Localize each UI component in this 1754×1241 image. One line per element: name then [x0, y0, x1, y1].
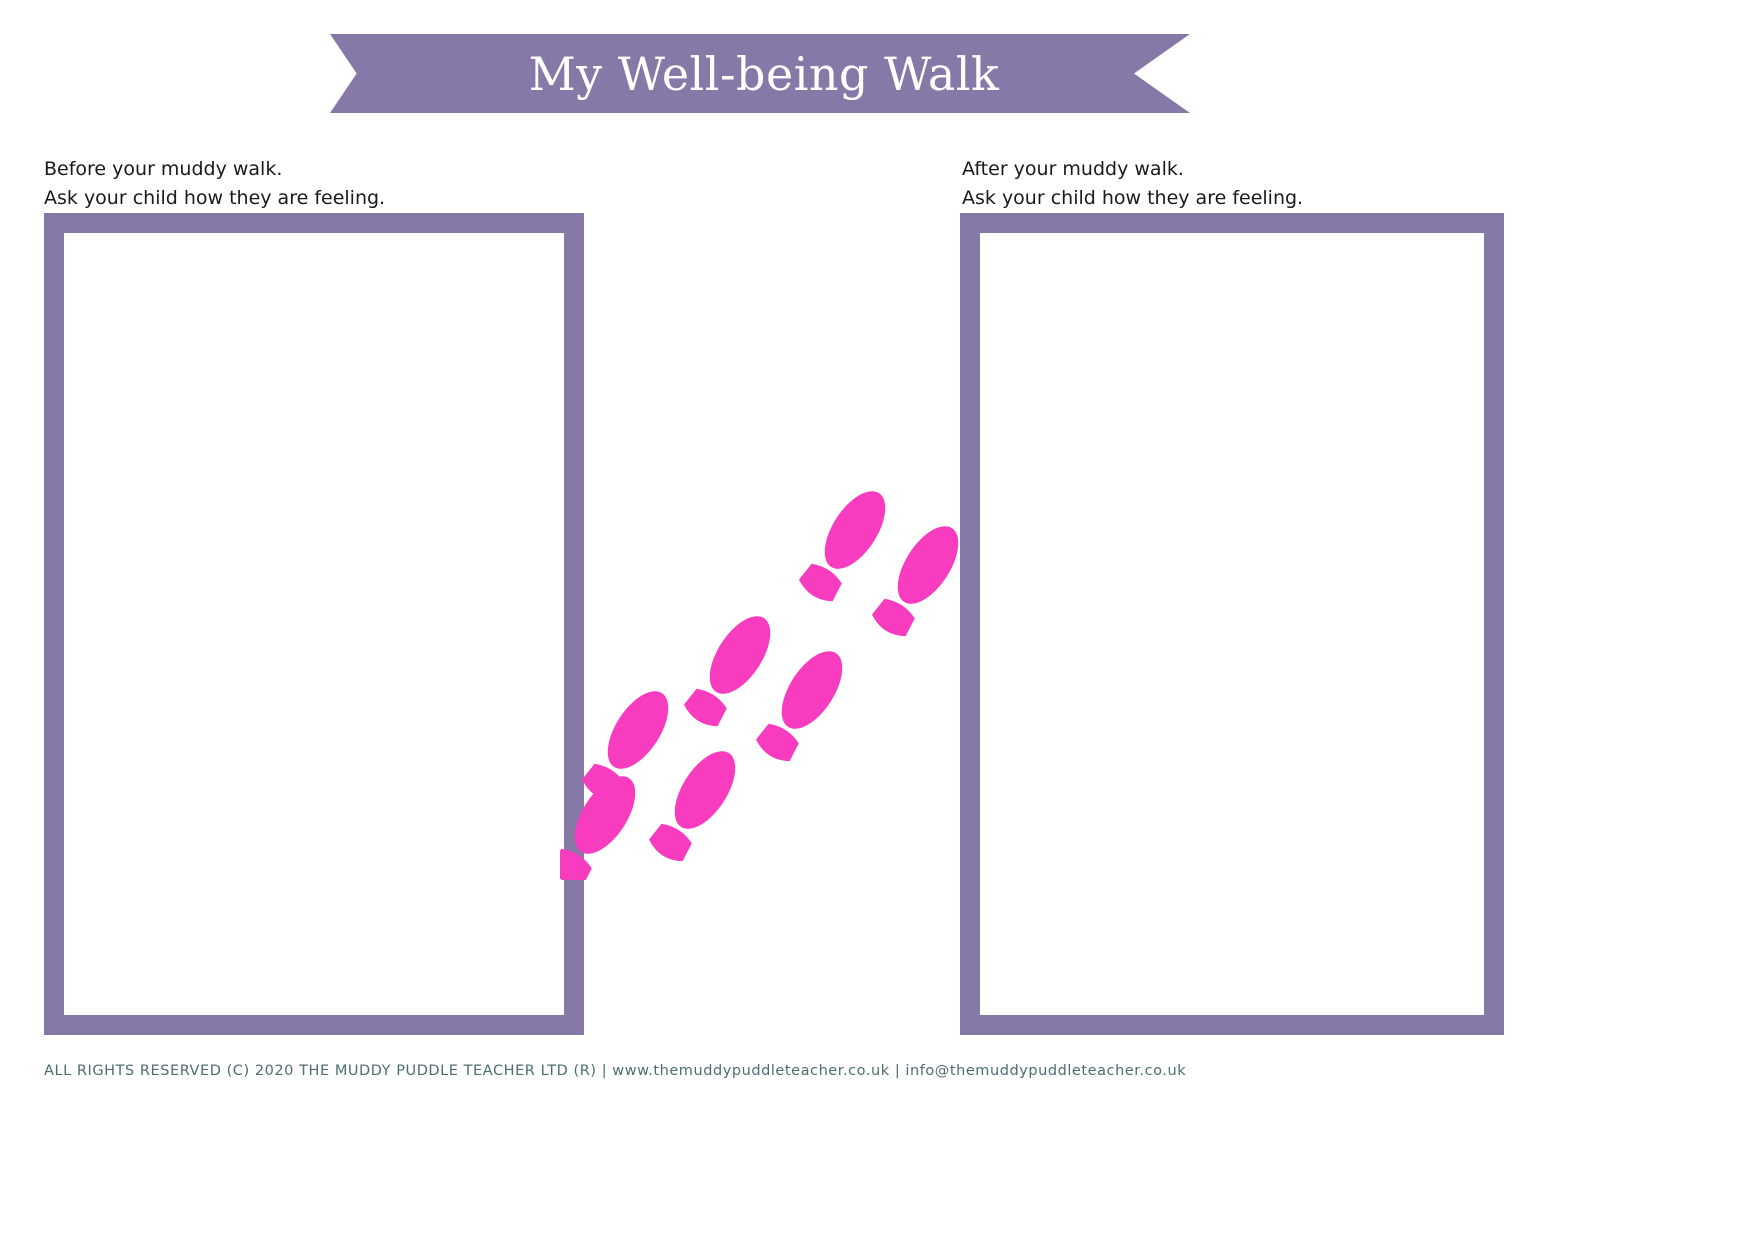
page-title-banner: My Well-being Walk [330, 34, 1190, 113]
copyright-footer: ALL RIGHTS RESERVED (C) 2020 THE MUDDY P… [44, 1063, 1186, 1079]
banner-shape: My Well-being Walk [330, 34, 1190, 113]
before-response-box[interactable] [44, 213, 584, 1035]
after-instructions-line1: After your muddy walk. [962, 155, 1303, 184]
before-instructions-line1: Before your muddy walk. [44, 155, 385, 184]
before-instructions-line2: Ask your child how they are feeling. [44, 184, 385, 213]
page-title: My Well-being Walk [521, 51, 1000, 97]
after-instructions-line2: Ask your child how they are feeling. [962, 184, 1303, 213]
before-instructions: Before your muddy walk. Ask your child h… [44, 155, 385, 213]
after-instructions: After your muddy walk. Ask your child ho… [962, 155, 1303, 213]
after-response-box[interactable] [960, 213, 1504, 1035]
footprint-trail-icon [560, 400, 990, 880]
